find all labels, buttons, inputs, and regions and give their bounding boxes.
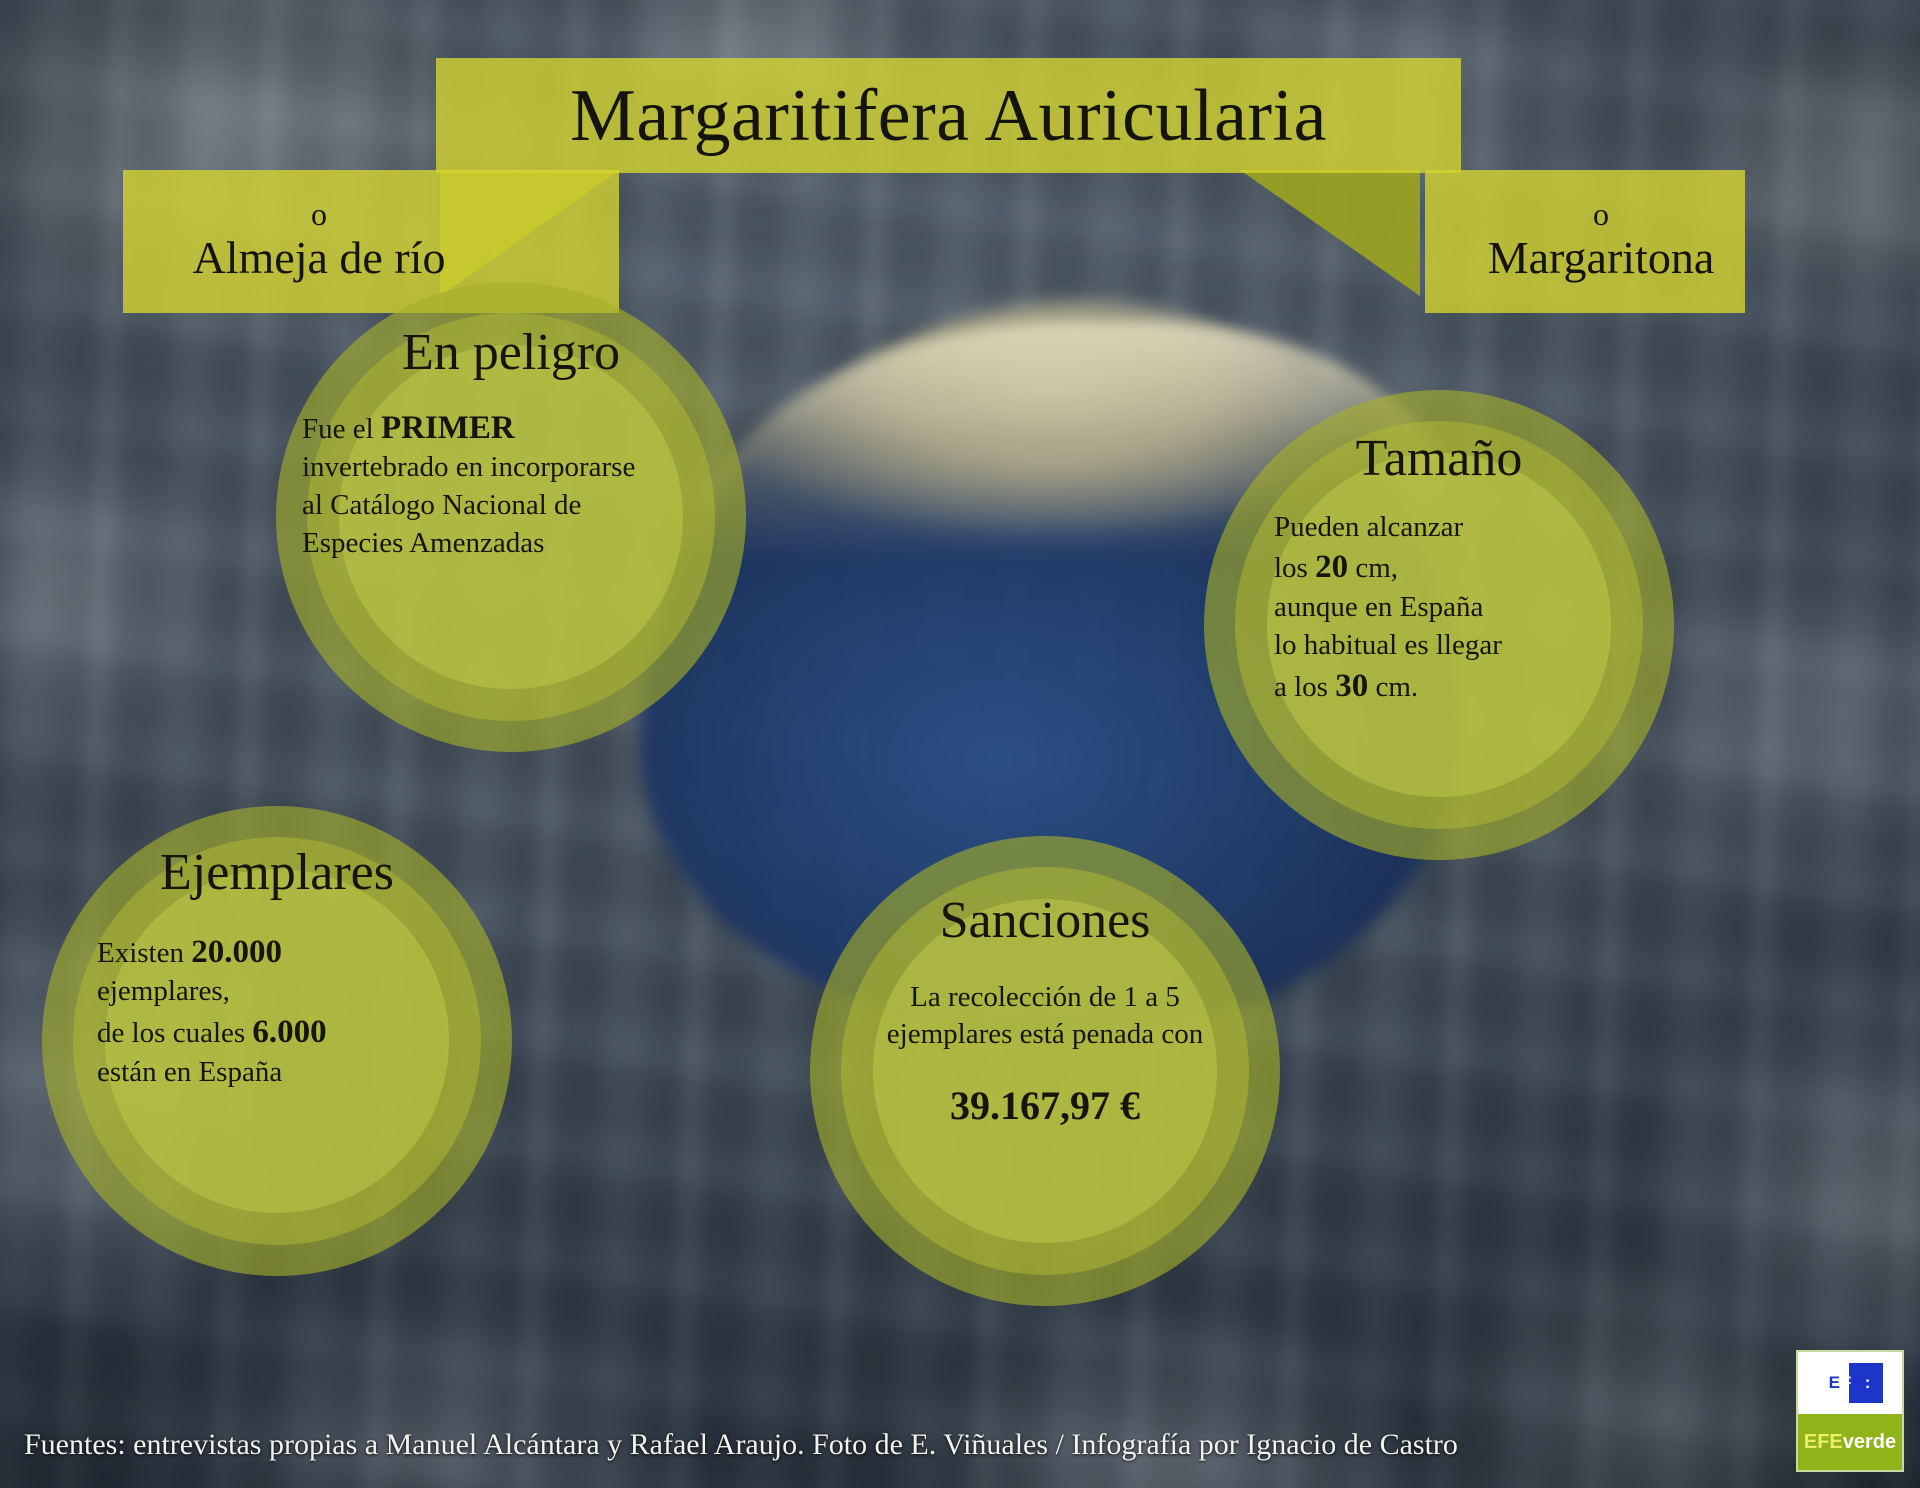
peligro-line3: al Catálogo Nacional de — [302, 489, 581, 521]
ejemplares-line2: ejemplares, — [97, 975, 230, 1007]
bubble-paragraph: Pueden alcanzar los 20 cm, aunque en Esp… — [1274, 509, 1604, 708]
bubble-heading: Tamaño — [1356, 432, 1523, 487]
alias-banner-right: o Margaritona — [1425, 170, 1745, 313]
ejemplares-total: 20.000 — [191, 934, 282, 970]
tamano-line2-post: cm, — [1348, 552, 1398, 584]
fact-bubble-sanciones: Sanciones La recolección de 1 a 5 ejempl… — [810, 836, 1280, 1306]
title-banner: Margaritifera Auricularia — [436, 58, 1461, 173]
bubble-paragraph: La recolección de 1 a 5 ejemplares está … — [830, 979, 1260, 1132]
tamano-line3: aunque en España — [1274, 591, 1483, 623]
peligro-line2: invertebrado en incorporarse — [302, 451, 635, 483]
peligro-line1-pre: Fue el — [302, 413, 381, 445]
tamano-line1: Pueden alcanzar — [1274, 511, 1463, 543]
bubble-content: Ejemplares Existen 20.000 ejemplares, de… — [42, 806, 512, 1276]
efe-brand-rest: verde — [1843, 1431, 1896, 1454]
sanciones-line2: ejemplares está penada con — [887, 1018, 1203, 1050]
alias-left-name: Almeja de río — [193, 232, 446, 285]
sanciones-line1: La recolección de 1 a 5 — [910, 981, 1180, 1013]
credits-text: Fuentes: entrevistas propias a Manuel Al… — [24, 1428, 1458, 1462]
bubble-paragraph: Fue el PRIMER invertebrado en incorporar… — [280, 407, 742, 563]
sanciones-fine-amount: 39.167,97 € — [830, 1080, 1260, 1132]
tamano-line5-pre: a los — [1274, 671, 1335, 703]
tamano-size-max: 30 — [1335, 668, 1368, 704]
efe-logo-mark-area: EFE: — [1798, 1352, 1902, 1414]
fact-bubble-tamano: Tamaño Pueden alcanzar los 20 cm, aunque… — [1204, 390, 1674, 860]
tamano-size-min: 20 — [1315, 549, 1348, 585]
page-title: Margaritifera Auricularia — [570, 79, 1327, 153]
tamano-line4: lo habitual es llegar — [1274, 629, 1502, 661]
peligro-line1-strong: PRIMER — [381, 410, 515, 446]
tamano-line5-post: cm. — [1368, 671, 1418, 703]
infographic-canvas: o Almeja de río o Margaritona Margaritif… — [0, 0, 1920, 1488]
bubble-heading: Ejemplares — [160, 846, 394, 901]
efe-verde-logo[interactable]: EFE: EFEverde — [1796, 1350, 1904, 1472]
efe-icon: EFE: — [1817, 1365, 1883, 1401]
footer-bar: Fuentes: entrevistas propias a Manuel Al… — [0, 1402, 1920, 1488]
ejemplares-line4: están en España — [97, 1056, 282, 1088]
bubble-content: Sanciones La recolección de 1 a 5 ejempl… — [810, 836, 1280, 1306]
ejemplares-spain: 6.000 — [252, 1014, 326, 1050]
efe-brand-bar: EFEverde — [1798, 1414, 1902, 1470]
ejemplares-line1-pre: Existen — [97, 937, 191, 969]
efe-mark-text: EFE: — [1829, 1373, 1872, 1393]
fact-bubble-en-peligro: En peligro Fue el PRIMER invertebrado en… — [276, 282, 746, 752]
peligro-line4: Especies Amenzadas — [302, 527, 544, 559]
alias-right-connector: o — [1593, 198, 1609, 232]
bubble-heading: Sanciones — [940, 894, 1151, 949]
bubble-content: En peligro Fue el PRIMER invertebrado en… — [276, 282, 746, 752]
bubble-heading: En peligro — [402, 326, 620, 381]
ejemplares-line3-pre: de los cuales — [97, 1017, 252, 1049]
bubble-content: Tamaño Pueden alcanzar los 20 cm, aunque… — [1204, 390, 1674, 860]
efe-brand-bold: EFE — [1804, 1431, 1843, 1454]
tamano-line2-pre: los — [1274, 552, 1315, 584]
alias-left-connector: o — [311, 198, 327, 232]
bubble-paragraph: Existen 20.000 ejemplares, de los cuales… — [97, 931, 457, 1092]
alias-right-name: Margaritona — [1488, 232, 1715, 285]
fact-bubble-ejemplares: Ejemplares Existen 20.000 ejemplares, de… — [42, 806, 512, 1276]
